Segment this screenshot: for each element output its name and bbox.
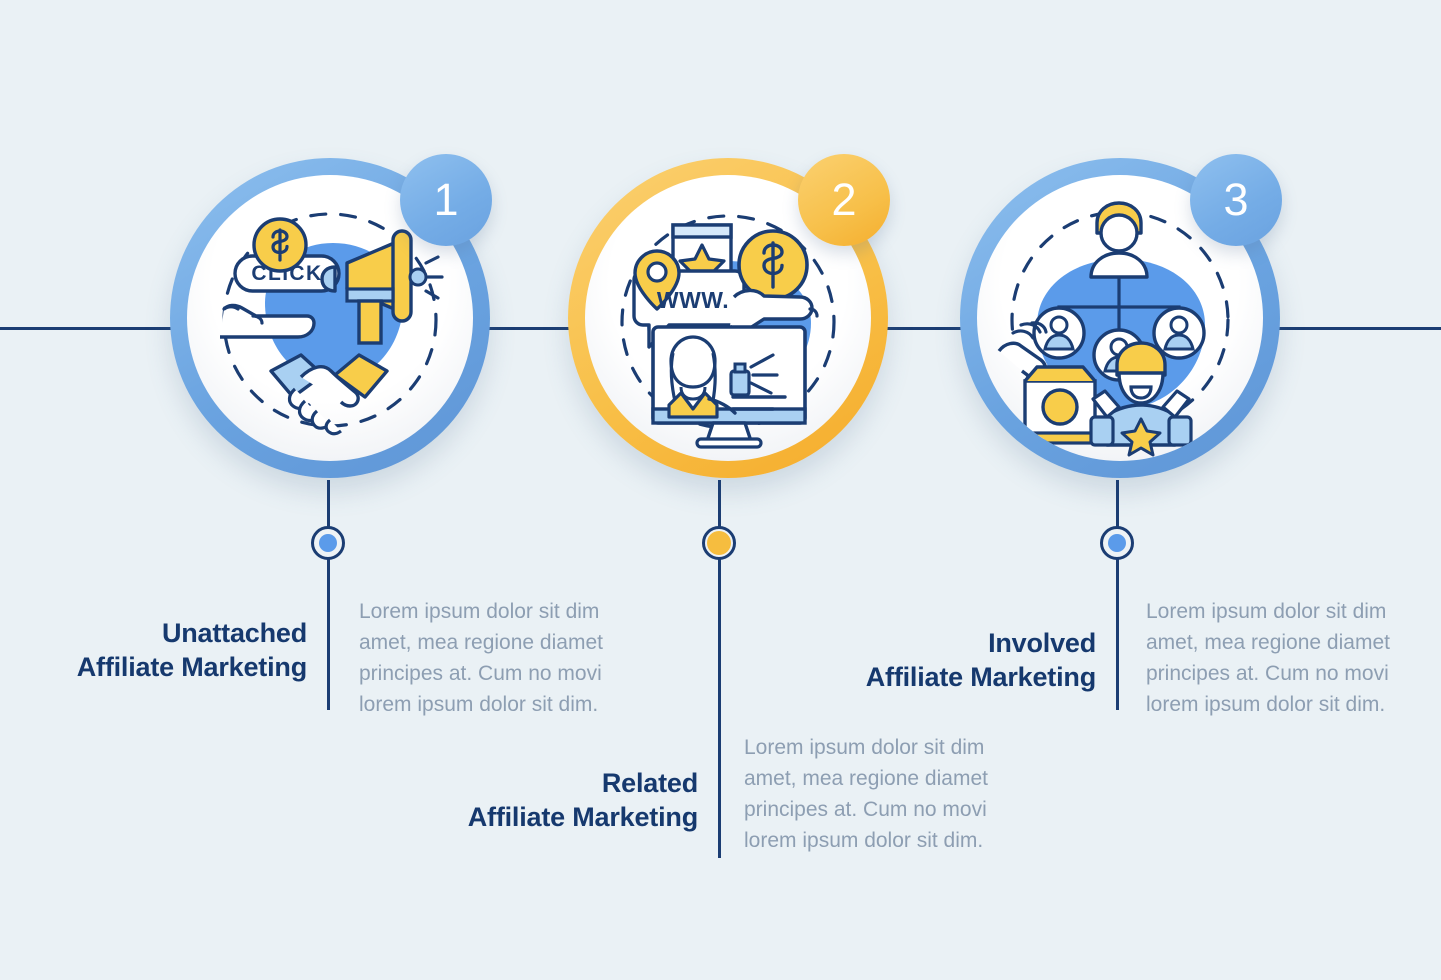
step-badge-2: 2 — [798, 154, 890, 246]
step-body-3: Lorem ipsum dolor sit dim amet, mea regi… — [1146, 596, 1418, 720]
step-number-2: 2 — [831, 174, 856, 226]
step-badge-1: 1 — [400, 154, 492, 246]
step-title-3: Involved Affiliate Marketing — [808, 626, 1096, 694]
step-number-3: 3 — [1223, 174, 1248, 226]
step-title-1: Unattached Affiliate Marketing — [20, 616, 307, 684]
www-label: WWW. — [657, 287, 729, 313]
timeline-segment-left — [0, 327, 178, 330]
step-dot-1 — [311, 526, 345, 560]
step-dot-2 — [702, 526, 736, 560]
step-number-1: 1 — [433, 174, 458, 226]
step-title-3-line1: Involved — [808, 626, 1096, 660]
step-connector-3 — [1116, 480, 1119, 710]
infographic-canvas: CLICK — [0, 0, 1441, 980]
step-body-1: Lorem ipsum dolor sit dim amet, mea regi… — [359, 596, 631, 720]
step-dot-3 — [1100, 526, 1134, 560]
step-badge-3: 3 — [1190, 154, 1282, 246]
step-dot-core-3 — [1108, 534, 1126, 552]
step-connector-1 — [327, 480, 330, 710]
step-dot-core-1 — [319, 534, 337, 552]
step-title-2-line2: Affiliate Marketing — [410, 800, 698, 834]
step-title-3-line2: Affiliate Marketing — [808, 660, 1096, 694]
step-title-1-line2: Affiliate Marketing — [20, 650, 307, 684]
step-title-2-line1: Related — [410, 766, 698, 800]
timeline-segment-right — [1266, 327, 1441, 330]
step-title-2: Related Affiliate Marketing — [410, 766, 698, 834]
step-dot-core-2 — [707, 531, 731, 555]
step-body-2: Lorem ipsum dolor sit dim amet, mea regi… — [744, 732, 1016, 856]
step-title-1-line1: Unattached — [20, 616, 307, 650]
